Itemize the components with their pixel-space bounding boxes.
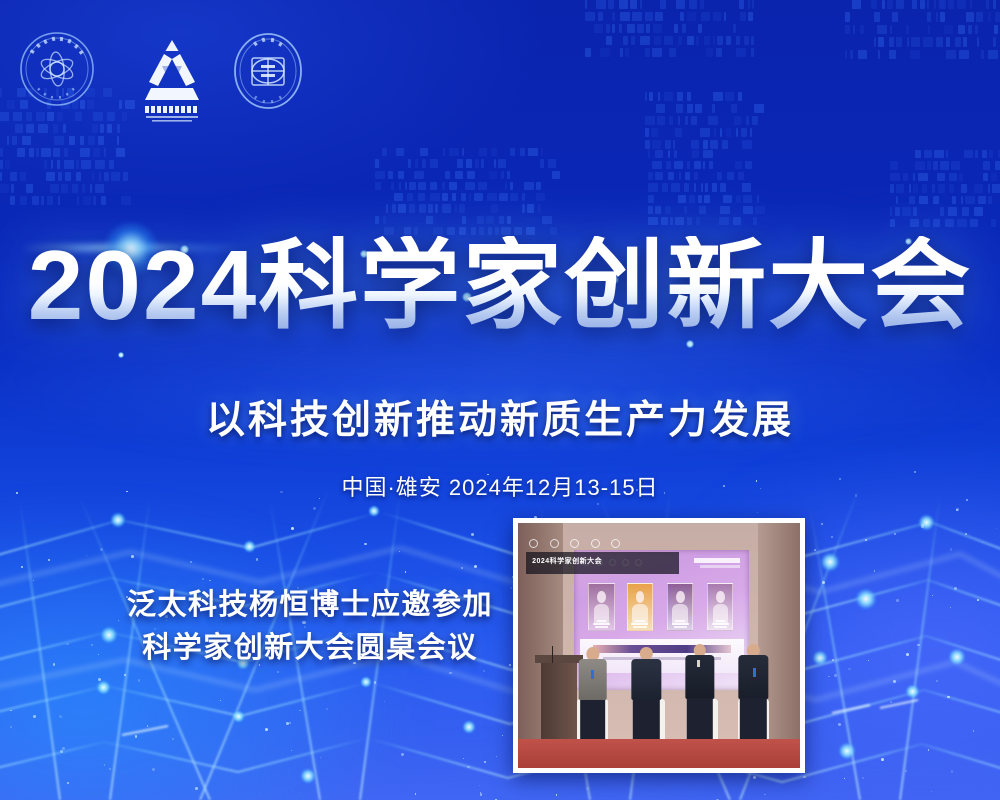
speaker-portrait [627, 583, 653, 630]
mesh-dust [480, 793, 482, 795]
mesh-dust [947, 696, 949, 698]
portrait-head [597, 591, 606, 603]
mesh-dust [977, 599, 979, 601]
mesh-dust [921, 524, 924, 527]
mesh-dust [104, 764, 105, 765]
mesh-dust [172, 738, 174, 740]
panelist-torso [632, 659, 661, 701]
mesh-dust [463, 758, 464, 759]
mesh-dust [832, 659, 834, 661]
screen-wordmark-sub [700, 565, 740, 568]
mesh-dust [195, 787, 198, 790]
mesh-dust [256, 558, 258, 560]
overlay-logo-icon [550, 539, 559, 548]
mesh-dust [291, 527, 294, 530]
mesh-dust [10, 710, 11, 711]
mesh-dust [21, 566, 22, 567]
mesh-dust [405, 571, 406, 572]
mesh-node [232, 710, 245, 723]
sparkle [118, 352, 124, 358]
mesh-dust [131, 555, 134, 558]
mesh-dust [474, 565, 477, 568]
mesh-dust [480, 792, 481, 793]
mesh-dust [803, 776, 805, 778]
mesh-dust [147, 725, 148, 726]
mesh-dust [848, 668, 851, 671]
mesh-node [360, 676, 372, 688]
overlay-logo-icon [529, 539, 538, 548]
handheld-microphone [697, 660, 700, 667]
mesh-node [300, 768, 316, 784]
overlay-logo-icon [611, 539, 620, 548]
conference-poster: 2024科学家创新大会 以科技创新推动新质生产力发展 中国·雄安 2024年12… [0, 0, 1000, 800]
photo-overlay-icons [529, 535, 627, 553]
mesh-node [368, 505, 380, 517]
panelist-torso [739, 655, 768, 699]
panelist [735, 643, 772, 739]
portrait-caption [628, 620, 652, 629]
mesh-dust [906, 653, 909, 656]
mesh-dust [894, 533, 896, 535]
mesh-node [110, 512, 126, 528]
mesh-dust [586, 787, 589, 790]
portrait-head [716, 591, 725, 603]
logo-scientists-innovation-triangle [135, 32, 209, 124]
mesh-dust [764, 794, 766, 796]
mesh-node [820, 552, 840, 572]
mesh-dust [326, 708, 328, 710]
mesh-dust [48, 559, 50, 561]
stage-floor [518, 739, 800, 768]
mesh-dust [950, 548, 952, 550]
mesh-dust [838, 723, 841, 726]
mesh-dust [313, 507, 316, 510]
mesh-dust [834, 674, 837, 677]
badge-lanyard [591, 670, 594, 679]
mesh-node [918, 514, 935, 531]
event-location-date: 中国·雄安 2024年12月13-15日 [0, 470, 1000, 502]
speaker-portrait [707, 583, 733, 630]
panelist-legs [740, 698, 766, 738]
logo-academic-institute-seal [230, 30, 306, 112]
panelist-legs [580, 700, 606, 739]
badge-lanyard [753, 668, 756, 677]
caption-line-2: 科学家创新大会圆桌会议 [100, 627, 520, 670]
mesh-dust [896, 599, 899, 602]
mesh-dust [956, 508, 958, 510]
microphone [552, 646, 553, 663]
mesh-node [462, 720, 476, 734]
mesh-dust [100, 548, 102, 550]
event-caption: 泛太科技杨恒博士应邀参加 科学家创新大会圆桌会议 [100, 584, 520, 670]
mesh-dust [231, 769, 232, 770]
panelist-legs [633, 700, 659, 739]
mesh-dust [415, 793, 416, 794]
mesh-dust [936, 680, 938, 682]
mesh-dust [291, 750, 292, 751]
mesh-dust [33, 580, 34, 581]
mesh-dust [905, 770, 907, 772]
roundtable-photo-card: 2024科学家创新大会 [513, 518, 805, 773]
mesh-node [96, 680, 111, 695]
mesh-dust [950, 607, 951, 608]
mesh-node [243, 540, 256, 553]
portrait-caption [589, 620, 613, 629]
mesh-dust [893, 680, 896, 683]
overlay-logo-icon [591, 539, 600, 548]
panelist-torso [578, 659, 607, 700]
mesh-dust [135, 735, 137, 737]
mesh-dust [202, 578, 204, 580]
mesh-node [905, 684, 920, 699]
mesh-node [855, 588, 877, 610]
portrait-caption [668, 620, 692, 629]
mesh-dust [190, 561, 192, 563]
photo-overlay-title: 2024科学家创新大会 [532, 556, 602, 566]
mesh-node [838, 742, 856, 760]
mesh-dust [374, 681, 376, 683]
overlay-logo-icon [570, 539, 579, 548]
mesh-dust [265, 728, 268, 731]
subtitle: 以科技创新推动新质生产力发展 [0, 389, 1000, 445]
panelist [574, 646, 611, 739]
logo-china-association-seal [18, 30, 96, 108]
roundtable-panel-photo: 2024科学家创新大会 [518, 523, 800, 768]
speaker-portrait [588, 583, 614, 630]
panelist-legs [687, 698, 713, 738]
mesh-node [948, 648, 966, 666]
screen-wordmark [694, 558, 740, 563]
mesh-dust [996, 528, 997, 529]
speaker-portrait [667, 583, 693, 630]
mesh-dust [401, 753, 404, 756]
mesh-dust [556, 794, 557, 795]
mesh-dust [86, 555, 87, 556]
caption-line-1: 泛太科技杨恒博士应邀参加 [100, 584, 520, 627]
portrait-head [676, 591, 685, 603]
portrait-caption [708, 620, 732, 629]
sparkle [686, 340, 694, 348]
panelist [628, 646, 665, 739]
logo-row [0, 26, 340, 126]
panelist [682, 643, 719, 739]
mesh-node [812, 650, 828, 666]
mesh-dust [53, 663, 55, 665]
portrait-head [636, 591, 645, 603]
page-title: 2024科学家创新大会 [0, 236, 1000, 334]
podium [541, 660, 578, 738]
